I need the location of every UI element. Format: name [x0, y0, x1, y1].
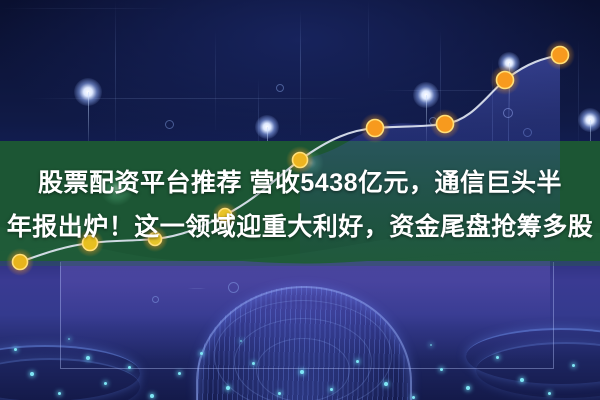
grid-hline: [0, 8, 170, 9]
particle: [430, 344, 432, 346]
panel-frame: [60, 262, 554, 369]
particle: [412, 396, 415, 399]
particle: [356, 360, 359, 363]
star-glow: [255, 115, 279, 139]
banner-image: 股票配资平台推荐 营收5438亿元，通信巨头半 年报出炉！这一领域迎重大利好，资…: [0, 0, 600, 400]
particle: [178, 372, 181, 375]
particle: [226, 386, 230, 390]
particle: [86, 356, 90, 360]
particle: [14, 348, 17, 351]
particle: [240, 340, 242, 342]
grid-streak: [578, 40, 579, 150]
particle: [200, 352, 203, 355]
headline-line-2: 年报出炉！这一领域迎重大利好，资金尾盘抢筹多股: [0, 207, 600, 243]
node-ring-icon: [523, 128, 532, 137]
grid-streak: [300, 10, 301, 135]
grid-streak: [215, 30, 216, 130]
particle: [104, 382, 107, 385]
grid-streak: [115, 0, 116, 150]
panel-node-icon: [228, 282, 239, 293]
particle: [252, 362, 255, 365]
node-ring-icon: [276, 84, 284, 92]
particle: [496, 356, 499, 359]
star-glow: [498, 52, 520, 74]
particle: [68, 338, 70, 340]
particle: [520, 378, 524, 382]
particle: [30, 372, 34, 376]
grid-streak: [368, 0, 369, 78]
particle: [128, 366, 131, 369]
headline-line-1: 股票配资平台推荐 营收5438亿元，通信巨头半: [0, 163, 600, 199]
grid-hline: [382, 90, 522, 91]
panel-marker: [188, 288, 206, 289]
particle: [278, 392, 281, 395]
particle: [330, 388, 333, 391]
node-ring-icon: [429, 117, 437, 125]
panel-node-icon: [152, 296, 159, 303]
particle: [58, 392, 61, 395]
particle: [300, 370, 304, 374]
star-glow: [413, 82, 439, 108]
node-ring-icon: [165, 120, 174, 129]
particle: [150, 394, 154, 398]
particle: [384, 382, 388, 386]
particle: [572, 364, 575, 367]
particle: [548, 392, 551, 395]
grid-streak: [440, 30, 441, 130]
particle: [466, 386, 470, 390]
star-glow: [578, 108, 600, 132]
particle: [440, 368, 443, 371]
star-glow: [74, 78, 102, 106]
